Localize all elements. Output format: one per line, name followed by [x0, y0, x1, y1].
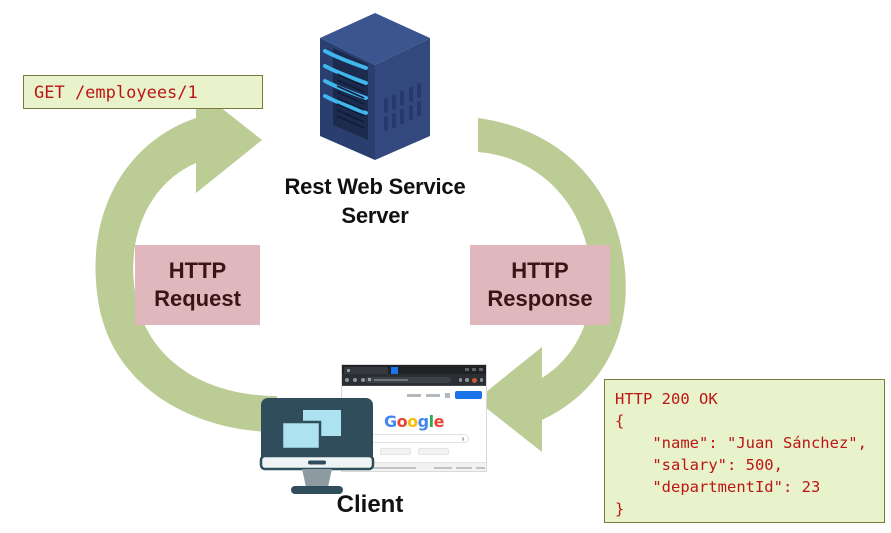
- server-tower-icon: [300, 8, 450, 173]
- logo-letter-g2: g: [418, 412, 429, 431]
- server-label-line2: Server: [240, 201, 510, 230]
- menu-icon: [480, 378, 484, 382]
- client-label: Client: [275, 491, 465, 519]
- http-request-badge: HTTP Request: [135, 245, 260, 325]
- star-icon: [459, 378, 463, 382]
- omnibar-actions: [459, 378, 484, 383]
- gmail-link: [407, 394, 421, 397]
- footer-link-terms: [456, 467, 472, 470]
- google-search-input: [361, 434, 469, 443]
- tab-favicon-icon: [347, 369, 350, 372]
- http-response-badge: HTTP Response: [470, 245, 610, 325]
- feeling-lucky-button: [418, 448, 449, 455]
- logo-letter-e: e: [434, 412, 444, 431]
- response-code-box: HTTP 200 OK { "name": "Juan Sánchez", "s…: [604, 379, 885, 523]
- address-bar-text: [374, 379, 408, 381]
- http-request-line2: Request: [154, 285, 241, 313]
- server-label-line1: Rest Web Service: [240, 172, 510, 201]
- window-controls: [461, 368, 483, 371]
- footer-link-advertising: [372, 467, 416, 470]
- server-label: Rest Web Service Server: [240, 172, 510, 230]
- microphone-icon: [462, 437, 465, 441]
- maximize-icon: [472, 368, 476, 371]
- google-search-button: [380, 448, 411, 455]
- footer-link-settings: [476, 467, 485, 470]
- avatar: [472, 378, 477, 383]
- browser-tab-strip: [342, 365, 486, 374]
- logo-letter-o1: o: [397, 412, 408, 431]
- forward-icon: [353, 378, 357, 382]
- diagram-canvas: REST Web Service Request and Response Cy…: [0, 0, 891, 533]
- http-response-line2: Response: [487, 285, 592, 313]
- apps-grid-icon: [445, 393, 450, 398]
- back-icon: [345, 378, 349, 382]
- google-header-links: [407, 391, 482, 399]
- minimize-icon: [465, 368, 469, 371]
- logo-letter-o2: o: [407, 412, 418, 431]
- new-tab-button: [391, 367, 398, 375]
- browser-omnibar: [342, 374, 486, 386]
- images-link: [426, 394, 440, 397]
- extension-icon: [465, 378, 469, 382]
- http-response-line1: HTTP: [511, 257, 568, 285]
- http-request-line1: HTTP: [169, 257, 226, 285]
- lock-icon: [368, 378, 371, 381]
- close-icon: [479, 368, 483, 371]
- sign-in-button: [455, 391, 482, 399]
- footer-link-privacy: [434, 467, 452, 470]
- browser-nav-icons: [345, 378, 365, 382]
- browser-tab: [344, 367, 388, 375]
- address-bar: [365, 377, 451, 383]
- desktop-monitor-icon: [258, 396, 376, 502]
- request-code-box: GET /employees/1: [23, 75, 263, 109]
- logo-letter-g1: G: [384, 412, 397, 431]
